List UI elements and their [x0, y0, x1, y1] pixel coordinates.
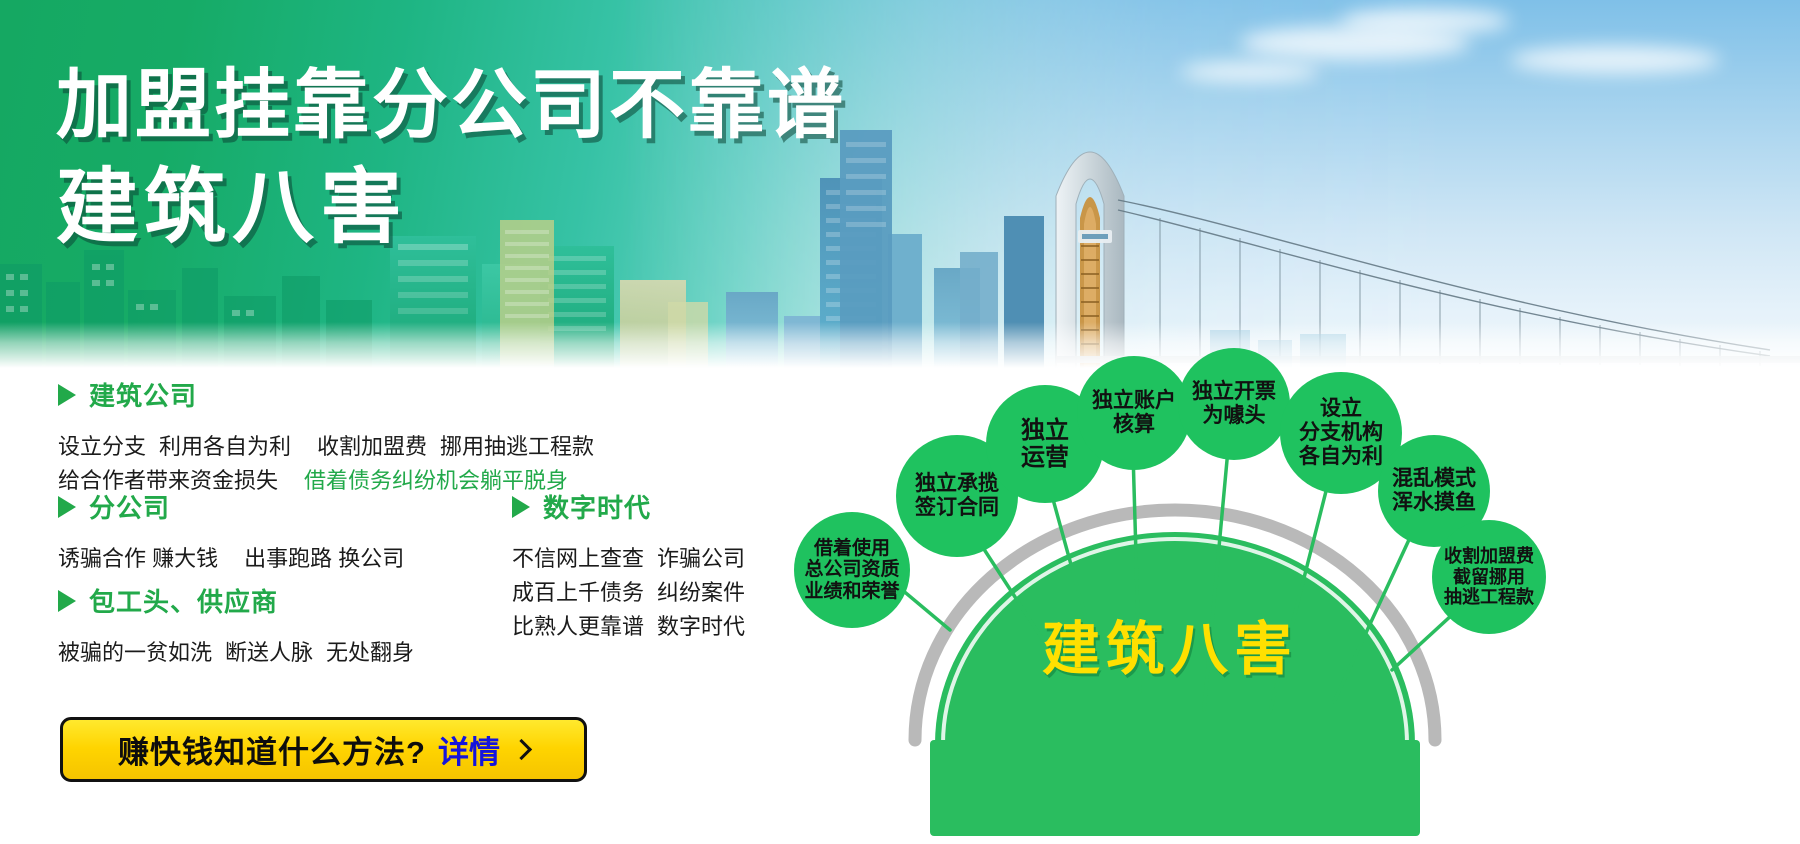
bubble-line: 分支机构 [1295, 421, 1387, 445]
bubble-item[interactable]: 借着使用 总公司资质 业绩和荣誉 [794, 512, 910, 628]
chevron-right-icon [511, 739, 532, 760]
text-fragment: 纠纷案件 [657, 580, 745, 605]
bubble-line: 截留挪用 [1440, 567, 1538, 588]
text-fragment: 出事跑路 换公司 [244, 546, 404, 571]
bubble-line: 混乱模式 [1388, 467, 1480, 491]
bubble-line: 签订合同 [911, 496, 1003, 520]
bubble-line: 运营 [1017, 444, 1073, 471]
bubble-line: 独立账户 [1088, 389, 1180, 413]
bubble-line: 抽逃工程款 [1440, 587, 1538, 608]
bubble-line: 独立开票 [1188, 380, 1280, 404]
section-construction-company: 建筑公司 设立分支利用各自为利收割加盟费挪用抽逃工程款 给合作者带来资金损失借着… [58, 376, 594, 498]
left-content-column: 建筑公司 设立分支利用各自为利收割加盟费挪用抽逃工程款 给合作者带来资金损失借着… [0, 376, 800, 844]
section-body-line: 不信网上查查诈骗公司 [512, 542, 745, 576]
text-fragment: 比熟人更靠谱 [512, 614, 644, 639]
cta-question-label: 赚快钱知道什么方法? [118, 727, 426, 772]
bubble-item[interactable]: 独立开票 为噱头 [1178, 348, 1290, 460]
section-contractor-supplier: 包工头、供应商 被骗的一贫如洗断送人脉无处翻身 [58, 582, 414, 670]
hero-banner: 加盟挂靠分公司不靠谱 建筑八害 [0, 0, 1800, 368]
cloud-shape [1340, 8, 1510, 34]
section-header: 包工头、供应商 [58, 582, 414, 619]
bubble-line: 核算 [1088, 413, 1180, 437]
text-fragment: 无处翻身 [326, 640, 414, 665]
bubble-line: 独立承揽 [911, 472, 1003, 496]
bubble-diagram: 借着使用 总公司资质 业绩和荣誉 独立承揽 签订合同 独立 运营 独立账户 核算 [800, 340, 1800, 844]
dome-center-label: 建筑八害 [960, 602, 1380, 686]
text-fragment: 成百上千债务 [512, 580, 644, 605]
triangle-bullet-icon [58, 384, 76, 406]
section-body-line: 诱骗合作 赚大钱出事跑路 换公司 [58, 542, 404, 576]
triangle-bullet-icon [512, 496, 530, 518]
section-body-line: 被骗的一贫如洗断送人脉无处翻身 [58, 636, 414, 670]
section-body: 诱骗合作 赚大钱出事跑路 换公司 [58, 542, 404, 576]
bubble-line: 设立 [1295, 397, 1387, 421]
text-fragment: 设立分支 [58, 434, 146, 459]
text-fragment: 诱骗合作 赚大钱 [58, 546, 218, 571]
hero-title-line-2: 建筑八害 [56, 160, 846, 255]
section-body: 被骗的一贫如洗断送人脉无处翻身 [58, 636, 414, 670]
triangle-bullet-icon [58, 590, 76, 612]
bubble-line: 独立 [1017, 417, 1073, 444]
bubble-line: 借着使用 [800, 538, 903, 560]
cta-button[interactable]: 赚快钱知道什么方法? 详情 [60, 717, 587, 782]
hero-title-group: 加盟挂靠分公司不靠谱 建筑八害 [56, 62, 846, 255]
section-title: 数字时代 [543, 488, 651, 525]
bubble-item[interactable]: 收割加盟费 截留挪用 抽逃工程款 [1432, 520, 1546, 634]
cta-details-link[interactable]: 详情 [438, 727, 500, 772]
text-fragment: 挪用抽逃工程款 [440, 434, 594, 459]
bubble-line: 收割加盟费 [1440, 546, 1538, 567]
text-fragment: 诈骗公司 [657, 546, 745, 571]
section-title: 包工头、供应商 [89, 582, 278, 619]
bubble-line: 总公司资质 [800, 559, 903, 581]
text-fragment: 断送人脉 [225, 640, 313, 665]
section-branch-company: 分公司 诱骗合作 赚大钱出事跑路 换公司 [58, 488, 404, 576]
bubble-line: 业绩和荣誉 [800, 581, 903, 603]
section-body-line: 设立分支利用各自为利收割加盟费挪用抽逃工程款 [58, 430, 594, 464]
poster-root: 加盟挂靠分公司不靠谱 建筑八害 建筑公司 设立分支利用各自为利收割加盟费挪用抽逃… [0, 0, 1800, 844]
text-fragment: 收割加盟费 [317, 434, 427, 459]
bubble-item[interactable]: 独立账户 核算 [1077, 356, 1191, 470]
section-body-line: 成百上千债务纠纷案件 [512, 576, 745, 610]
section-title: 分公司 [89, 488, 170, 525]
text-fragment: 不信网上查查 [512, 546, 644, 571]
section-digital-era: 数字时代 不信网上查查诈骗公司 成百上千债务纠纷案件 比熟人更靠谱数字时代 [512, 488, 745, 644]
section-header: 分公司 [58, 488, 404, 525]
hero-title-line-1: 加盟挂靠分公司不靠谱 [56, 62, 846, 150]
triangle-bullet-icon [58, 496, 76, 518]
section-body-line: 比熟人更靠谱数字时代 [512, 610, 745, 644]
bubble-line: 浑水摸鱼 [1388, 491, 1480, 515]
section-body: 不信网上查查诈骗公司 成百上千债务纠纷案件 比熟人更靠谱数字时代 [512, 542, 745, 644]
section-header: 数字时代 [512, 488, 745, 525]
section-header: 建筑公司 [58, 376, 594, 413]
bubble-line: 各自为利 [1295, 445, 1387, 469]
section-title: 建筑公司 [89, 376, 197, 413]
bubble-line: 为噱头 [1188, 404, 1280, 428]
text-fragment: 被骗的一贫如洗 [58, 640, 212, 665]
text-fragment: 利用各自为利 [159, 434, 291, 459]
text-fragment: 数字时代 [657, 614, 745, 639]
